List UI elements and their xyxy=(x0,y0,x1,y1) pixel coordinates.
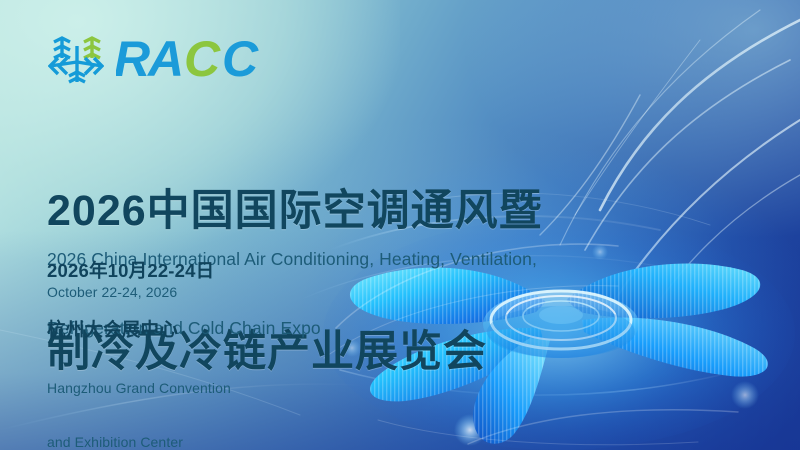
wordmark-letter-c2: C xyxy=(222,36,259,82)
event-venue-english-line2: and Exhibition Center xyxy=(47,433,231,450)
wordmark-letter-c1: C xyxy=(184,36,221,82)
event-date: 2026年10月22-24日 October 22-24, 2026 xyxy=(47,259,214,302)
wordmark-letter-r: R xyxy=(116,36,150,82)
fan-blade xyxy=(582,318,768,377)
snowflake-logo-icon xyxy=(48,32,104,86)
event-date-chinese: 2026年10月22-24日 xyxy=(47,259,214,282)
fan-blade xyxy=(566,263,760,318)
event-banner: R A C C 2026中国国际空调通风暨 制冷及冷链产业展览会 2026 Ch… xyxy=(0,0,800,450)
racc-wordmark: R A C C xyxy=(116,36,294,82)
event-venue-english-line1: Hangzhou Grand Convention xyxy=(47,379,231,397)
wordmark-letter-a: A xyxy=(146,36,184,82)
event-venue: 杭州大会展中心 Hangzhou Grand Convention and Ex… xyxy=(47,318,231,450)
logo: R A C C xyxy=(48,32,294,86)
event-date-english: October 22-24, 2026 xyxy=(47,283,214,302)
event-venue-chinese: 杭州大会展中心 xyxy=(47,318,231,341)
event-venue-english: Hangzhou Grand Convention and Exhibition… xyxy=(47,343,231,450)
